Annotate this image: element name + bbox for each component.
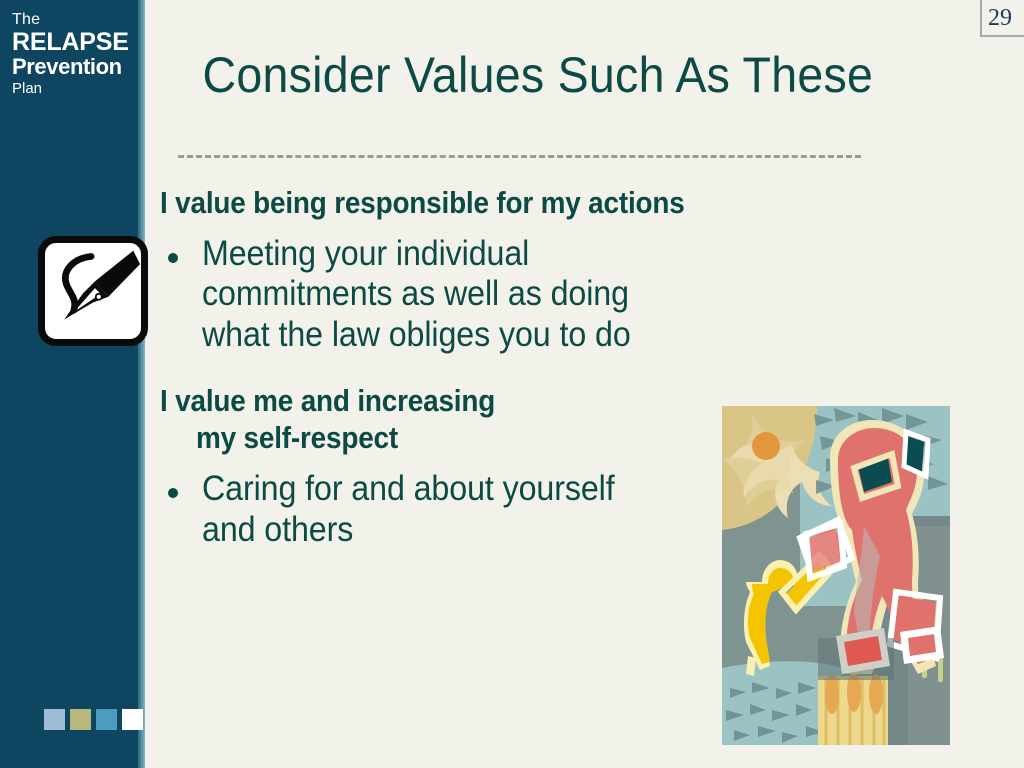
sidebar [0,0,138,768]
bullet-dot-icon [168,488,178,498]
page-title: Consider Values Such As These [203,46,854,104]
brand-block: The RELAPSE Prevention Plan [12,12,138,96]
page-number-underline [980,35,1024,37]
value-heading-1: I value being responsible for my actions [160,184,664,222]
swatch-light-blue [44,709,65,730]
brand-line-prevention: Prevention [12,55,138,79]
bullet-dot-icon [168,253,178,263]
value-block-2: I value me and increasing my self-respec… [160,382,720,551]
value-bullet-1-text: Meeting your individual commitments as w… [202,234,679,356]
swatch-khaki [70,709,91,730]
adult-and-child-clipart [722,406,950,745]
brand-line-relapse: RELAPSE [12,29,138,55]
swatch-row [44,709,143,730]
brand-line-plan: Plan [12,81,138,96]
brand-line-the: The [12,12,138,28]
swatch-white [122,709,143,730]
slide-canvas: The RELAPSE Prevention Plan 29 Consider … [0,0,1024,768]
value-heading-2-line1: I value me and increasing [160,383,495,418]
value-bullet-2-text: Caring for and about yourself and others [202,469,644,550]
sidebar-edge-stripe [138,0,145,768]
value-heading-2: I value me and increasing my self-respec… [160,382,664,458]
value-bullet-1: Meeting your individual commitments as w… [160,234,720,356]
page-number-divider [980,0,982,36]
fountain-pen-icon [38,236,148,346]
content-body: I value being responsible for my actions… [160,184,720,550]
value-heading-2-line2: my self-respect [160,419,664,457]
page-number: 29 [988,5,1012,32]
value-bullet-2: Caring for and about yourself and others [160,469,720,550]
value-block-1: I value being responsible for my actions… [160,184,720,356]
value-heading-1-line1: I value being responsible for my actions [160,185,685,220]
title-dashed-divider [178,155,861,158]
swatch-blue [96,709,117,730]
